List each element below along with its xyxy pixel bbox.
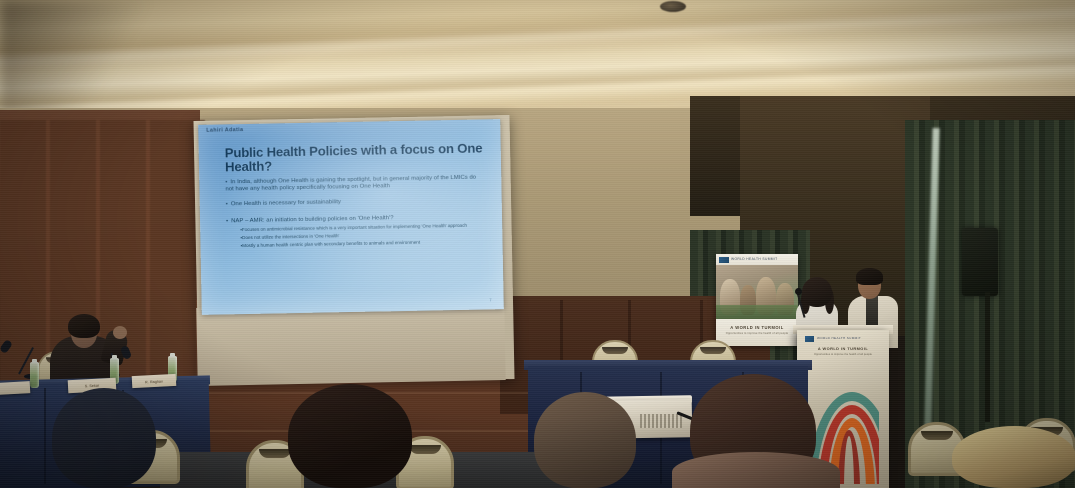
podium-title: A WORLD IN TURMOIL xyxy=(797,346,889,351)
name-placard xyxy=(0,381,30,395)
speaker-male-hair xyxy=(856,268,883,285)
banner-foliage xyxy=(716,305,798,319)
chair-back-slot xyxy=(921,431,953,440)
audience-head xyxy=(52,388,156,488)
bullet-marker: • xyxy=(226,218,228,225)
slide-sub-bullet: ▪Mostly a human health centric plan with… xyxy=(240,238,484,248)
audience-head xyxy=(534,392,636,488)
slide-bullet-text: One Health is necessary for sustainabili… xyxy=(231,199,341,207)
bottle-cap xyxy=(170,353,175,357)
summit-logo-icon xyxy=(719,257,729,263)
podium-logo-text: WORLD HEALTH SUMMIT xyxy=(817,336,861,340)
slide-bullet: •In India, although One Health is gainin… xyxy=(225,174,483,192)
slide-title: Public Health Policies with a focus on O… xyxy=(225,141,483,174)
name-placard-text xyxy=(0,386,30,388)
projector-vent xyxy=(640,414,682,428)
name-placard-text: R. Raghav xyxy=(132,378,176,384)
audience-head xyxy=(288,384,412,488)
bottle-cap xyxy=(112,355,117,359)
banner-logo-text: WORLD HEALTH SUMMIT xyxy=(731,257,778,261)
event-banner: WORLD HEALTH SUMMIT A WORLD IN TURMOIL O… xyxy=(716,254,798,346)
slide-header-text: Lahiri Adatia xyxy=(206,127,243,134)
speaker-stand-pole xyxy=(985,292,990,422)
name-placard: R. Raghav xyxy=(132,374,177,388)
banner-header-bar: WORLD HEALTH SUMMIT xyxy=(716,254,798,265)
bottle-cap xyxy=(32,359,37,363)
slide-bullet-text: NAP – AMR: an initiation to building pol… xyxy=(231,215,394,224)
banner-title: A WORLD IN TURMOIL xyxy=(716,325,798,330)
slide-sub-bullet-text: Does not utilize the intersections in 'O… xyxy=(242,233,339,240)
smoke-detector-icon xyxy=(660,1,686,12)
summit-logo-icon xyxy=(805,336,814,342)
slide-sub-bullet-text: Mostly a human health centric plan with … xyxy=(242,240,420,248)
projection-screen-lower-blank xyxy=(196,302,505,386)
podium-subtitle: Opportunities to improve the health of a… xyxy=(797,353,889,356)
slide-page-number: 7 xyxy=(489,297,491,302)
panelist-hand xyxy=(113,326,127,339)
chair-back-slot xyxy=(409,445,441,454)
water-bottle xyxy=(30,362,39,388)
chair-back-slot xyxy=(700,347,726,354)
loudspeaker xyxy=(962,228,998,296)
ceiling-corner-shadow xyxy=(0,0,150,120)
chair-back-slot xyxy=(602,347,628,354)
projection-screen: Lahiri Adatia Public Health Policies wit… xyxy=(198,119,504,315)
podium-microphone-head xyxy=(795,288,802,295)
chair-back-slot xyxy=(259,449,291,458)
table-skirt-pleat xyxy=(44,388,46,484)
audience-head xyxy=(952,426,1075,488)
audience-shoulders xyxy=(672,452,840,488)
banner-subtitle: Opportunities to improve the health of a… xyxy=(716,332,798,335)
slide-bullet-text: In India, although One Health is gaining… xyxy=(225,175,476,192)
speaker-female-hair xyxy=(802,277,832,307)
banner-photo xyxy=(716,265,798,319)
slide-content: Public Health Policies with a focus on O… xyxy=(225,141,485,248)
bullet-marker: • xyxy=(226,202,228,209)
panelist-hair xyxy=(68,314,100,338)
slide-bullet: •One Health is necessary for sustainabil… xyxy=(226,197,484,209)
conference-room-photo: Lahiri Adatia Public Health Policies wit… xyxy=(0,0,1075,488)
